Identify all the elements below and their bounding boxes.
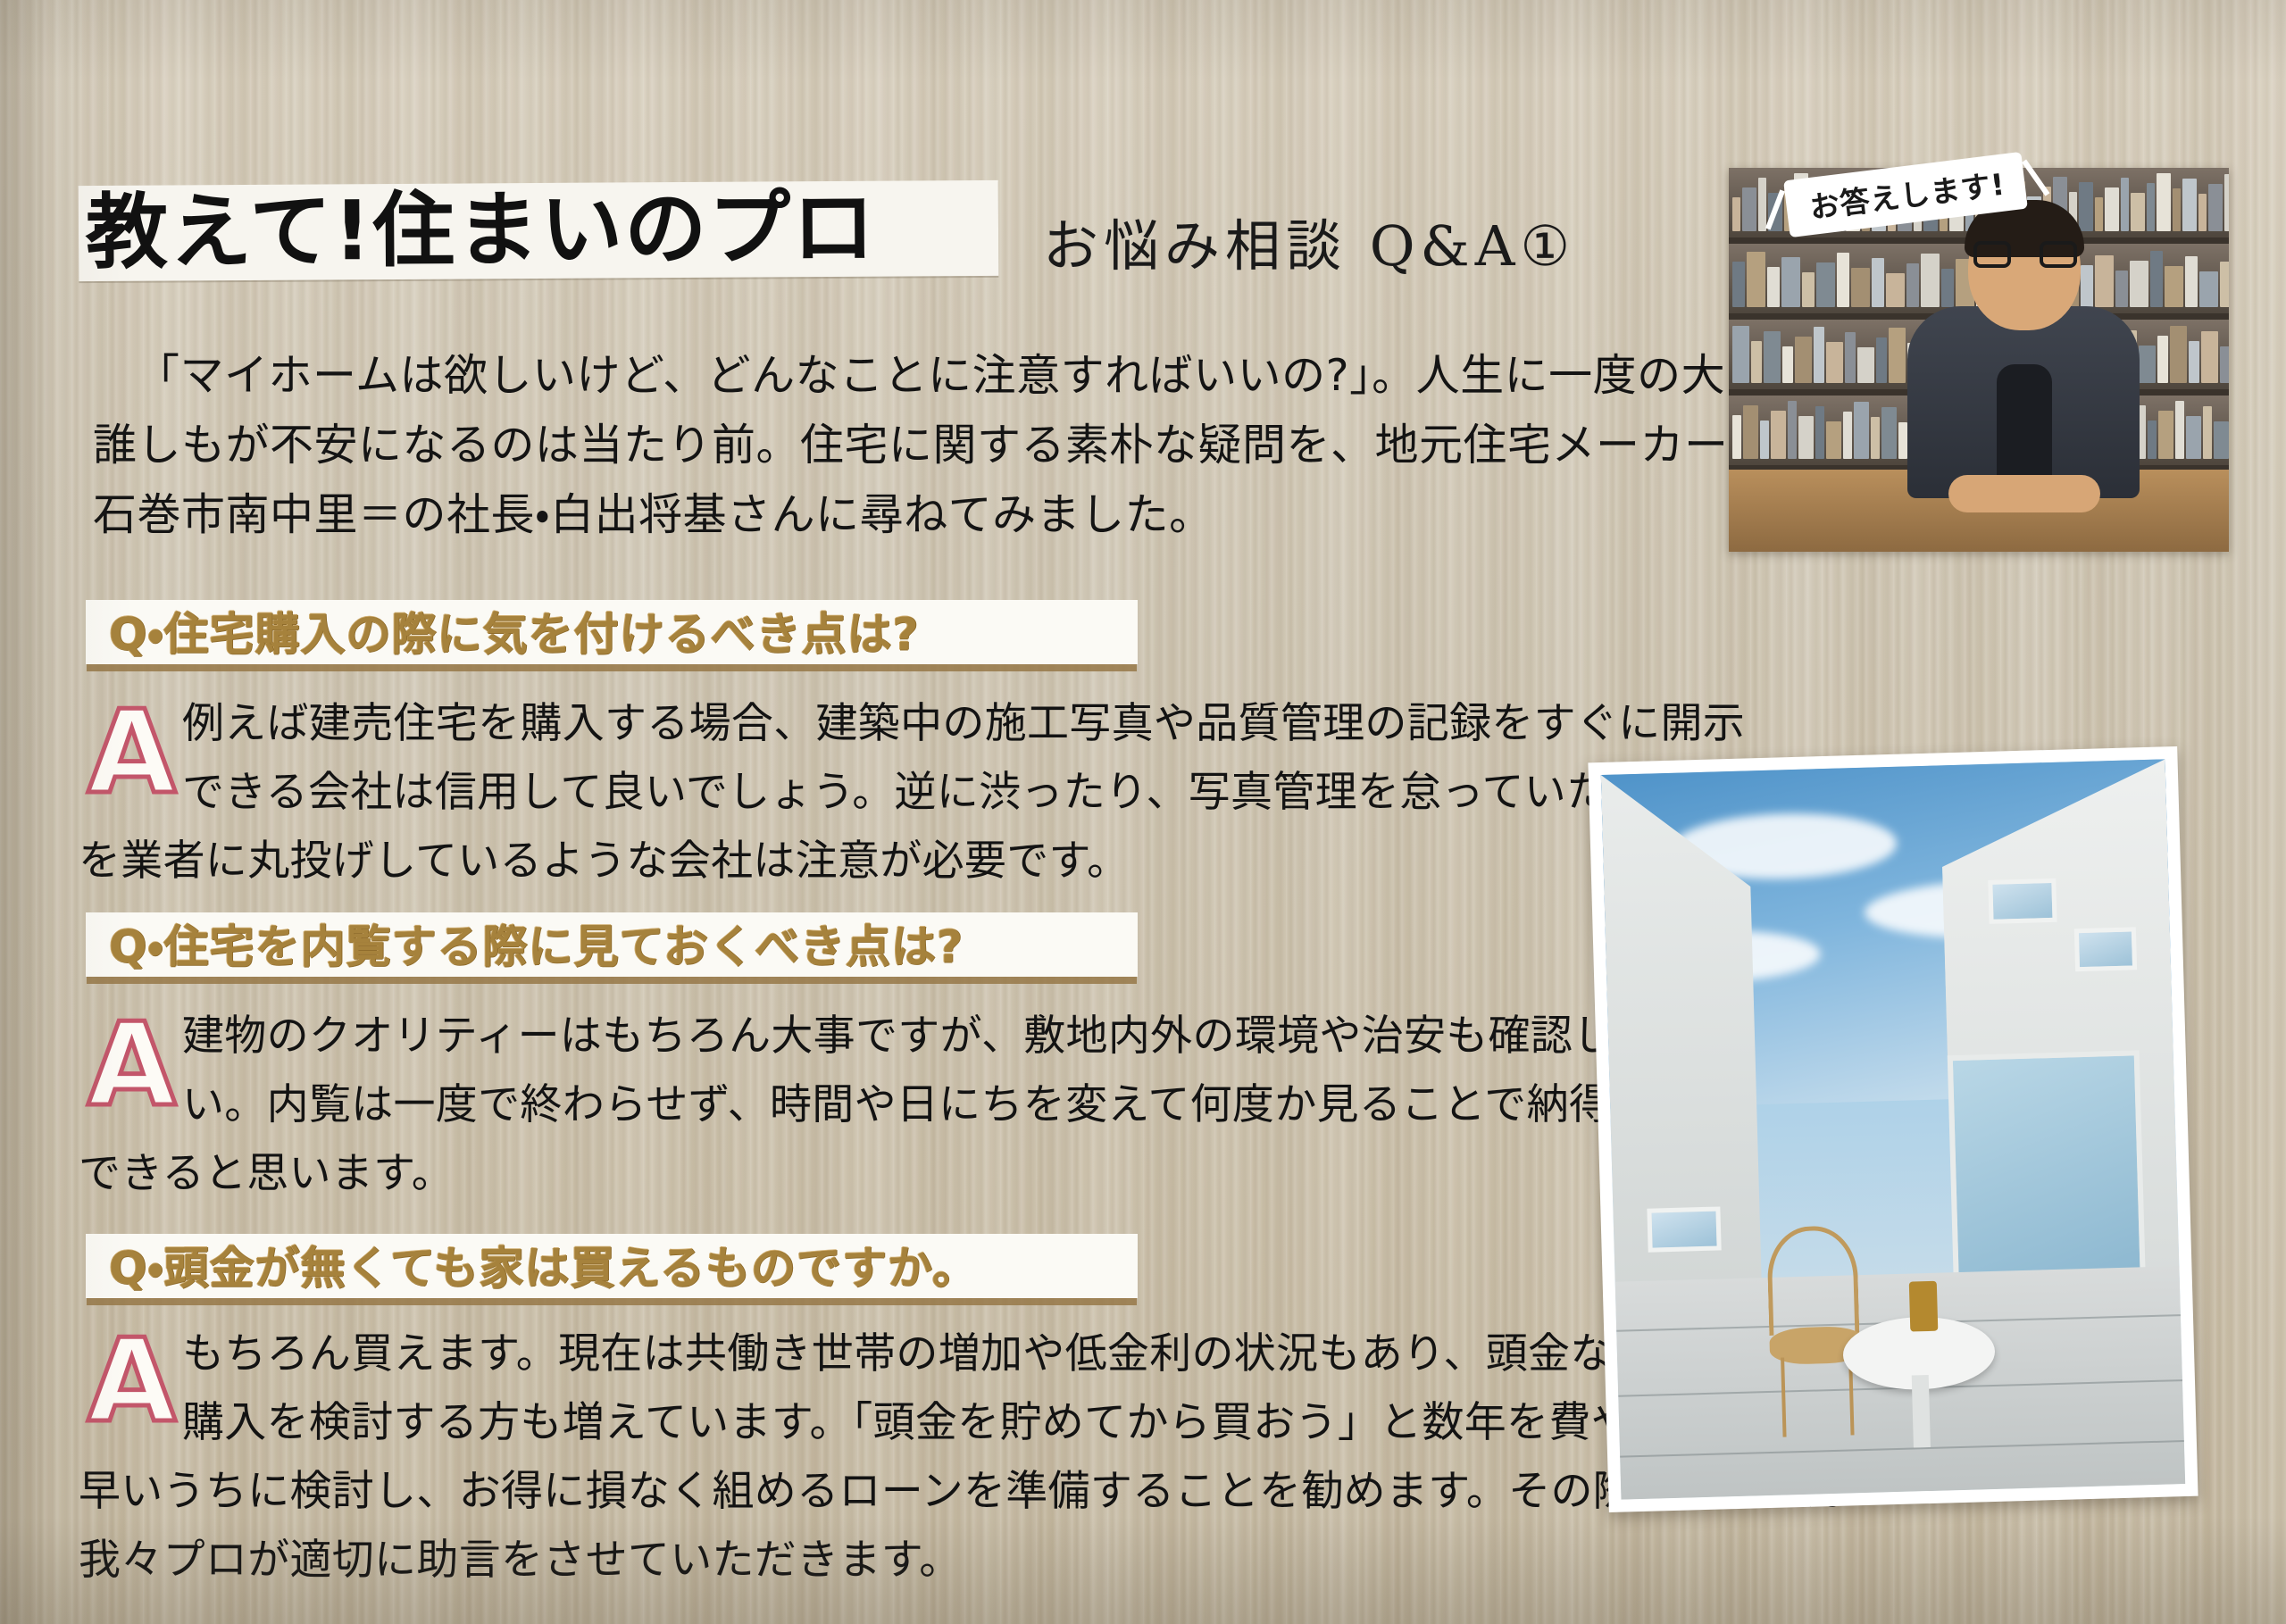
intro-paragraph: 「マイホームは欲しいけど、どんなことに注意すればいいの?」。人生に一度の大きな買…: [93, 341, 1772, 550]
book-spine: [2214, 421, 2229, 459]
book-spine: [1906, 263, 1919, 307]
book-spine: [1743, 405, 1758, 459]
book-spine: [2121, 178, 2129, 231]
book-spine: [1826, 342, 1843, 383]
book-spine: [1876, 337, 1887, 383]
book-spine: [1747, 252, 1765, 307]
intro-line: 「マイホームは欲しいけど、どんなことに注意すればいいの?」。人生に一度の大きな買…: [93, 341, 1772, 411]
book-spine: [2203, 406, 2212, 459]
book-spine: [2182, 179, 2197, 231]
window-small: [2073, 927, 2137, 972]
intro-line: 石巻市南中里＝の社長・白出将基さんに尋ねてみました。: [93, 480, 1772, 550]
book-spine: [1788, 401, 1797, 459]
page-title: 教えて!住まいのプロ: [86, 179, 997, 282]
answer-line: 購入を検討する方も増えています。「頭金を貯めてから買おう」と数年を費やすより、: [79, 1388, 1650, 1457]
book-spine: [2131, 193, 2145, 231]
book-spine: [2185, 256, 2198, 307]
table-leg: [1911, 1375, 1930, 1448]
book-spine: [1816, 262, 1835, 307]
question-text-1: Q・住宅購入の際に気を付けるべき点は?: [109, 599, 920, 663]
book-spine: [1732, 415, 1741, 459]
book-spine: [2095, 255, 2114, 307]
book-spine: [1760, 421, 1769, 459]
book-spine: [1872, 258, 1884, 307]
book-spine: [2199, 271, 2218, 307]
book-spine: [1889, 328, 1906, 383]
book-spine: [1871, 417, 1880, 459]
book-spine: [1851, 268, 1870, 307]
book-spine: [1764, 331, 1781, 383]
book-spine: [1845, 332, 1856, 383]
book-spine: [1732, 262, 1745, 307]
answer-text-3: もちろん買えます。現在は共働き世帯の増加や低金利の状況もあり、頭金なしで住宅 購…: [79, 1320, 1650, 1595]
book-spine: [1921, 254, 1940, 307]
book-spine: [1886, 273, 1905, 307]
book-spine: [1802, 272, 1815, 307]
book-spine: [2198, 194, 2207, 231]
book-spine: [1814, 327, 1824, 383]
question-bar-2: Q・住宅を内覧する際に見ておくべき点は?: [86, 912, 1138, 977]
answer-line: い。内覧は一度で終わらせず、時間や日にちを変えて何度か見ることで納得して購入: [79, 1070, 1650, 1139]
room-photo-inner: [1601, 759, 2185, 1499]
book-spine: [2081, 265, 2093, 307]
answer-line: 早いうちに検討し、お得に損なく組めるローンを準備することを勧めます。その際ももち…: [79, 1457, 1650, 1526]
chair-back: [1766, 1225, 1859, 1337]
book-spine: [1795, 337, 1812, 383]
page-subtitle: お悩み相談 Q&A①: [1043, 201, 1575, 281]
book-spine: [2147, 183, 2155, 231]
book-spine: [1826, 421, 1841, 459]
answer-text-2: 建物のクオリティーはもちろん大事ですが、敷地内外の環境や治安も確認してくださ い…: [79, 1002, 1650, 1208]
room-photo: [1588, 746, 2198, 1512]
book-spine: [1843, 412, 1852, 459]
book-spine: [1854, 402, 1869, 459]
book-spine: [1771, 411, 1786, 459]
answer-line: を業者に丸投げしているような会社は注意が必要です。: [79, 827, 1650, 895]
book-spine: [1767, 267, 1780, 307]
book-spine: [2115, 271, 2128, 307]
window-large: [1948, 1050, 2146, 1302]
answer-line: 我々プロが適切に助言をさせていただきます。: [79, 1526, 1650, 1595]
intro-line: 誰しもが不安になるのは当たり前。住宅に関する素朴な疑問を、地元住宅メーカー㈲あす…: [93, 411, 1772, 480]
book-spine: [1881, 407, 1897, 459]
glasses-icon: [1973, 241, 2077, 268]
book-spine: [1815, 406, 1824, 459]
book-spine: [1898, 422, 1907, 459]
answer-line: 建物のクオリティーはもちろん大事ですが、敷地内外の環境や治安も確認してくださ: [79, 1002, 1650, 1070]
question-text-2: Q・住宅を内覧する際に見ておくべき点は?: [109, 912, 964, 976]
book-spine: [1798, 416, 1814, 459]
book-spine: [2201, 331, 2218, 383]
book-spine: [2095, 197, 2103, 231]
question-bar-1: Q・住宅購入の際に気を付けるべき点は?: [86, 600, 1138, 664]
book-spine: [1732, 197, 1740, 231]
book-spine: [2157, 336, 2168, 383]
book-spine: [2139, 346, 2156, 383]
answer-line: 例えば建売住宅を購入する場合、建築中の施工写真や品質管理の記録をすぐに開示: [79, 689, 1650, 758]
answer-line: もちろん買えます。現在は共働き世帯の増加や低金利の状況もあり、頭金なしで住宅: [79, 1320, 1650, 1388]
answer-line: できると思います。: [79, 1139, 1650, 1208]
floor-line: [1620, 1440, 2184, 1458]
book-spine: [2105, 187, 2119, 231]
book-spine: [2173, 188, 2181, 231]
book-spine: [2220, 262, 2229, 307]
book-spine: [2157, 173, 2171, 231]
answer-text-1: 例えば建売住宅を購入する場合、建築中の施工写真や品質管理の記録をすぐに開示 でき…: [79, 689, 1650, 895]
book-spine: [1782, 346, 1793, 383]
book-spine: [2130, 261, 2148, 307]
book-spine: [1781, 257, 1800, 307]
book-spine: [2170, 326, 2187, 383]
book-spine: [1837, 253, 1849, 307]
book-spine: [2148, 421, 2157, 459]
lantern: [1908, 1280, 1938, 1332]
book-spine: [2150, 251, 2163, 307]
answer-line: できる会社は信用して良いでしょう。逆に渋ったり、写真管理を怠っていたり、建築業務: [79, 758, 1650, 827]
book-spine: [2186, 416, 2201, 459]
book-spine: [1732, 326, 1749, 383]
book-spine: [2165, 266, 2183, 307]
book-spine: [1758, 178, 1766, 231]
question-bar-3: Q・頭金が無くても家は買えるものですか。: [86, 1234, 1138, 1298]
book-spine: [1941, 269, 1954, 307]
book-spine: [2079, 182, 2093, 231]
window-small: [1647, 1207, 1721, 1253]
book-spine: [1751, 341, 1762, 383]
person-hands: [1948, 475, 2100, 512]
book-spine: [2175, 401, 2184, 459]
book-spine: [2189, 341, 2199, 383]
question-text-3: Q・頭金が無くても家は買えるものですか。: [109, 1233, 978, 1297]
book-spine: [1857, 347, 1874, 383]
window-small: [1988, 879, 2057, 924]
book-spine: [2220, 346, 2229, 383]
magazine-page: 教えて!住まいのプロ お悩み相談 Q&A① 「マイホームは欲しいけど、どんなこと…: [0, 0, 2286, 1624]
book-spine: [2158, 411, 2173, 459]
book-spine: [1742, 187, 1756, 231]
book-spine: [2224, 174, 2229, 231]
book-spine: [2208, 184, 2223, 231]
